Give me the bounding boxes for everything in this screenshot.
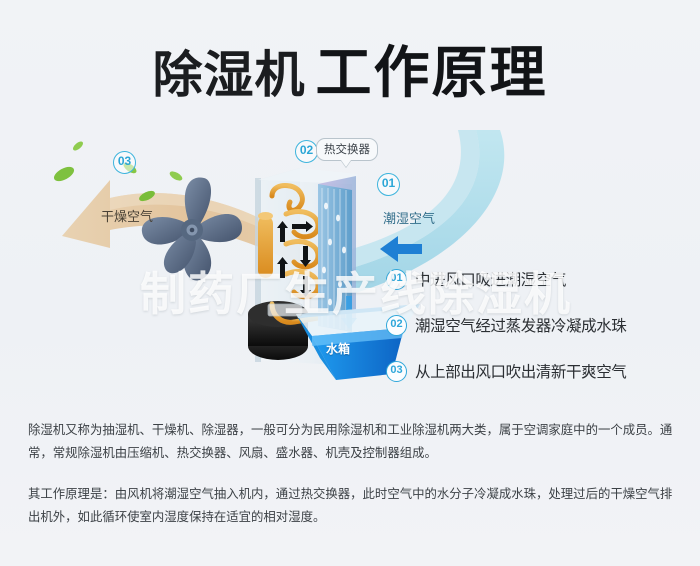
dry-air-label: 干燥空气 xyxy=(101,206,153,225)
step-text-03: 从上部出风口吹出清新干爽空气 xyxy=(415,360,626,382)
diagram-badge-01: 01 xyxy=(377,173,400,196)
humid-air-label: 潮湿空气 xyxy=(383,208,435,227)
page-title-part1: 除湿机 xyxy=(153,46,306,104)
step-text-02: 潮湿空气经过蒸发器冷凝成水珠 xyxy=(415,314,626,336)
step-badge-02: 02 xyxy=(386,315,407,336)
page-title: 除湿机工作原理 xyxy=(0,28,700,109)
step-badge-01: 01 xyxy=(386,269,407,290)
diagram-badge-02: 02 xyxy=(295,140,318,163)
water-tank-label: 水箱 xyxy=(326,340,350,357)
diagram-badge-03: 03 xyxy=(113,151,136,174)
body-paragraph-1: 除湿机又称为抽湿机、干燥机、除湿器，一般可分为民用除湿机和工业除湿机两大类，属于… xyxy=(28,418,678,464)
step-text-01: 中进风口吸进潮湿空气 xyxy=(415,268,566,290)
accumulator xyxy=(258,212,273,278)
fan-illustration xyxy=(142,178,242,281)
list-item: 01 中进风口吸进潮湿空气 xyxy=(386,262,686,296)
body-copy: 除湿机又称为抽湿机、干燥机、除湿器，一般可分为民用除湿机和工业除湿机两大类，属于… xyxy=(28,418,678,528)
step-list: 01 中进风口吸进潮湿空气 02 潮湿空气经过蒸发器冷凝成水珠 03 从上部出风… xyxy=(386,262,686,400)
step-badge-03: 03 xyxy=(386,361,407,382)
heat-exchanger-callout: 热交换器 xyxy=(316,138,378,161)
page-root: 除湿机工作原理 xyxy=(0,0,700,566)
list-item: 02 潮湿空气经过蒸发器冷凝成水珠 xyxy=(386,308,686,342)
body-paragraph-2: 其工作原理是：由风机将潮湿空气抽入机内，通过热交换器，此时空气中的水分子冷凝成水… xyxy=(28,482,678,528)
page-title-part2: 工作原理 xyxy=(316,41,548,106)
list-item: 03 从上部出风口吹出清新干爽空气 xyxy=(386,354,686,388)
